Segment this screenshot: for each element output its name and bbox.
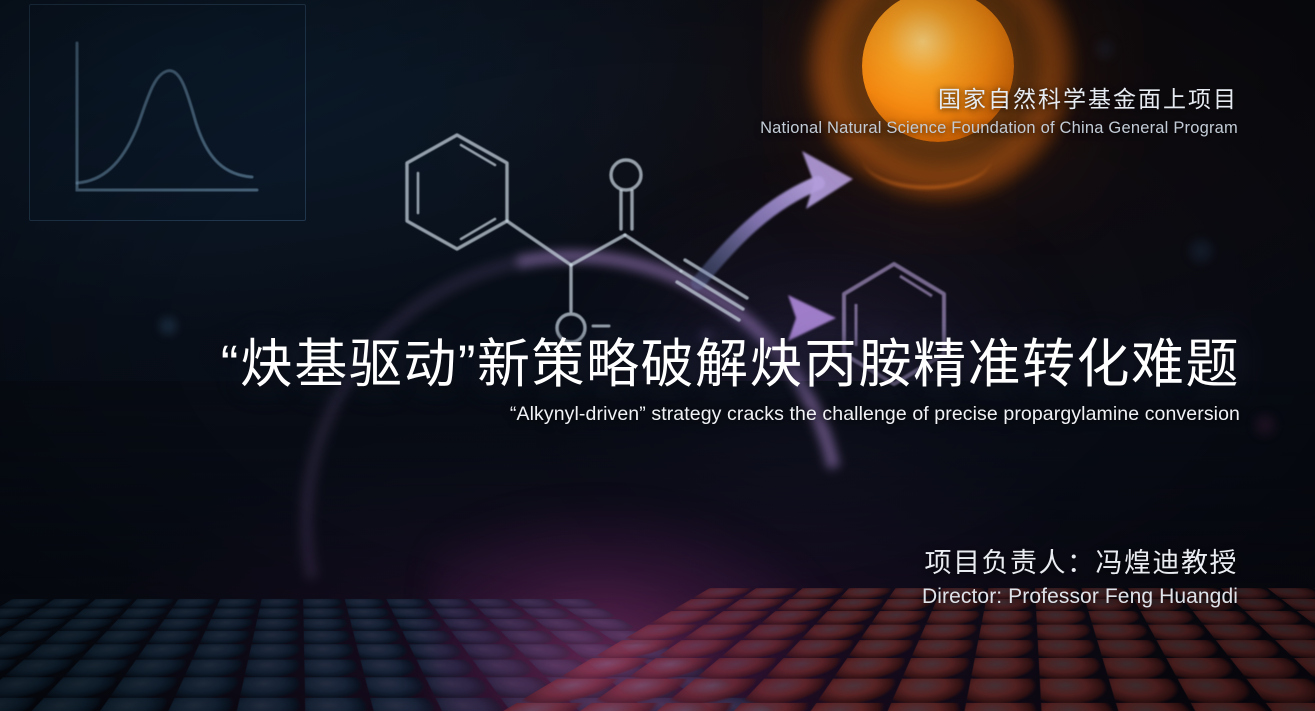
poster-banner: 国家自然科学基金面上项目 National Natural Science Fo… xyxy=(0,0,1315,711)
funding-header-en: National Natural Science Foundation of C… xyxy=(760,120,1238,137)
director-credit: 项目负责人：冯煌迪教授 Director: Professor Feng Hua… xyxy=(922,550,1238,607)
director-credit-en: Director: Professor Feng Huangdi xyxy=(922,586,1238,607)
funding-header: 国家自然科学基金面上项目 National Natural Science Fo… xyxy=(760,88,1238,137)
page-title-cn: “炔基驱动”新策略破解炔丙胺精准转化难题 xyxy=(0,336,1240,393)
page-title: “炔基驱动”新策略破解炔丙胺精准转化难题 “Alkynyl-driven” st… xyxy=(0,336,1240,426)
director-credit-cn: 项目负责人：冯煌迪教授 xyxy=(922,550,1238,577)
page-title-en: “Alkynyl-driven” strategy cracks the cha… xyxy=(0,403,1240,426)
funding-header-cn: 国家自然科学基金面上项目 xyxy=(760,88,1238,111)
